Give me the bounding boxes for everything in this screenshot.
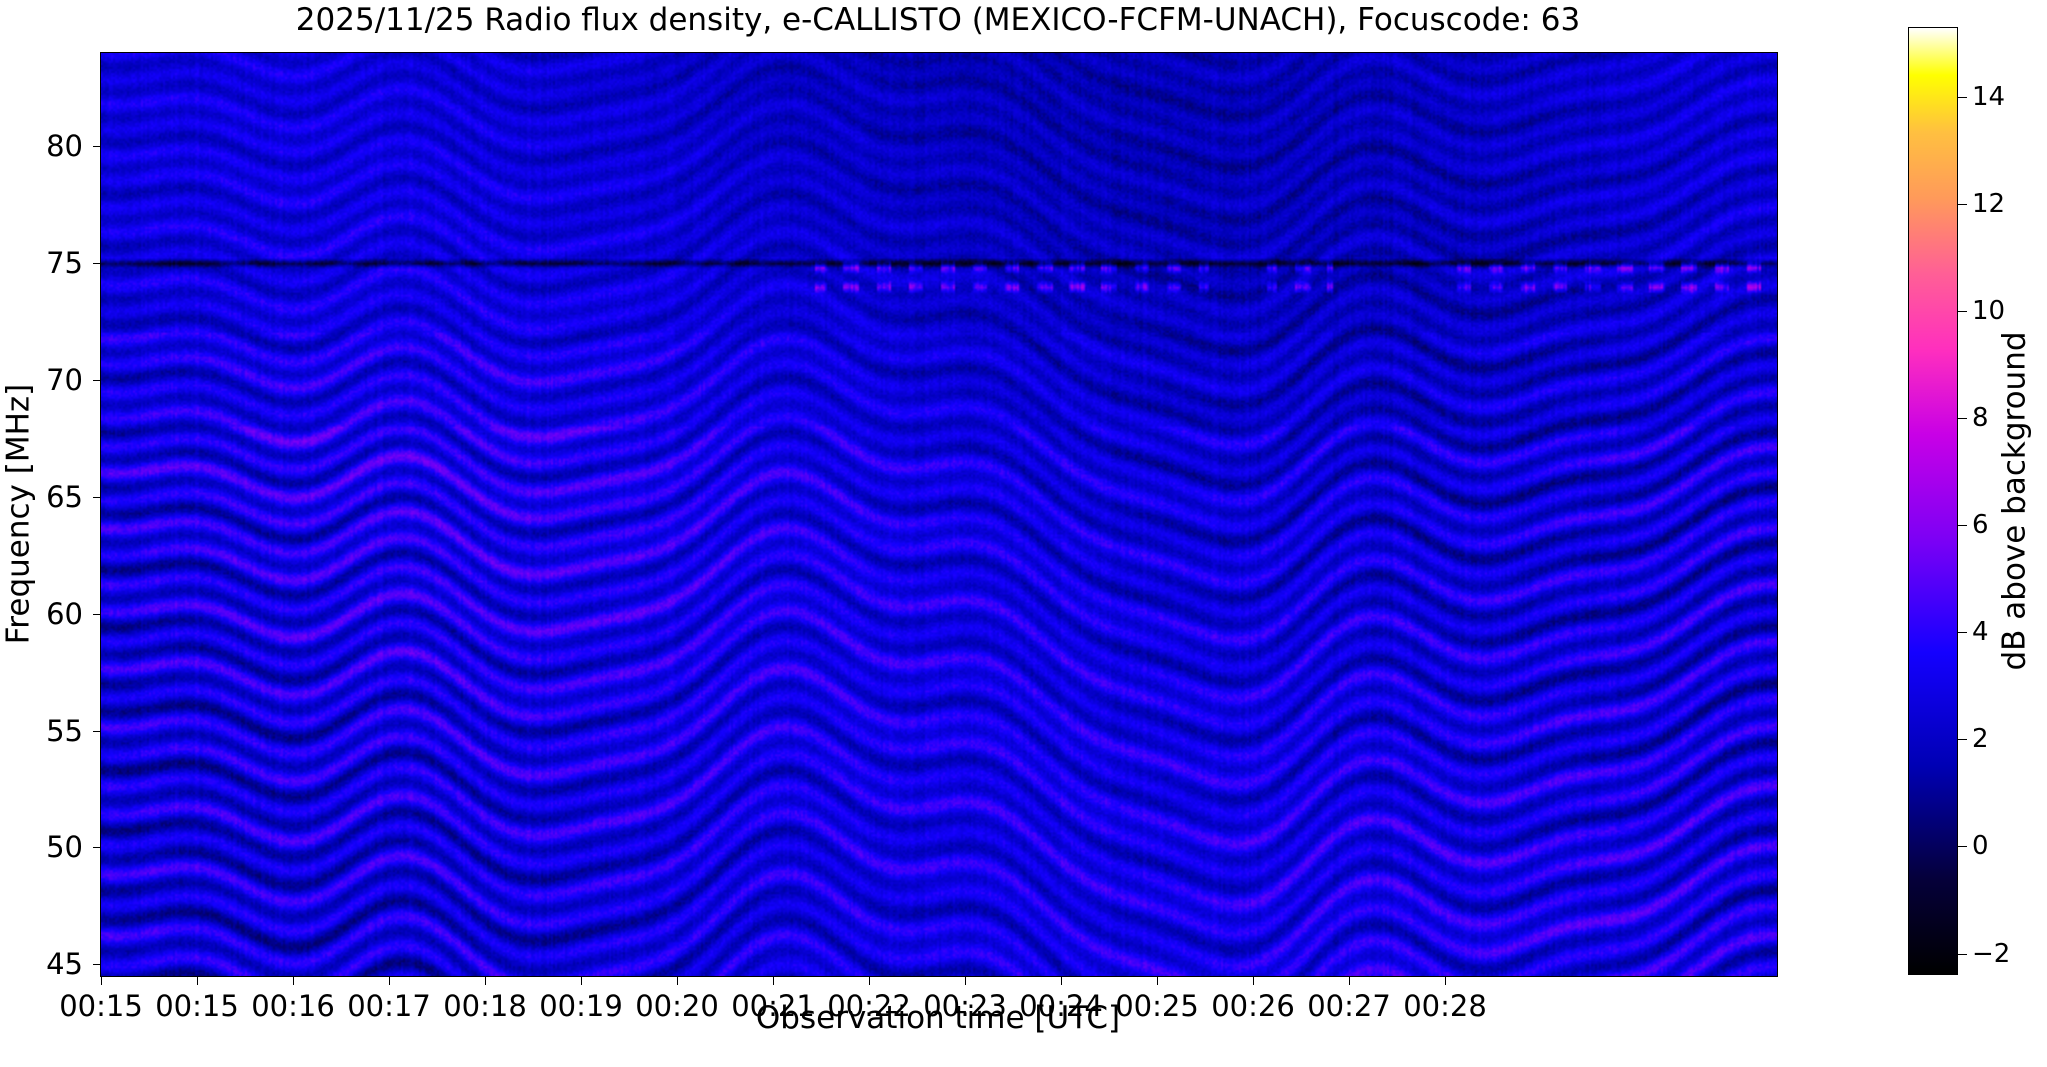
colorbar-tick-mark [1958, 632, 1967, 633]
y-tick-mark [93, 380, 101, 381]
colorbar-tick-label: 0 [1972, 831, 1989, 861]
y-tick-label: 55 [46, 714, 83, 748]
y-tick-mark [93, 614, 101, 615]
x-tick-mark [1349, 977, 1350, 985]
x-tick-mark [581, 977, 582, 985]
y-tick-mark [93, 731, 101, 732]
x-tick-mark [1157, 977, 1158, 985]
colorbar-tick-mark [1958, 311, 1967, 312]
y-tick-mark [93, 964, 101, 965]
y-tick-mark [93, 146, 101, 147]
x-tick-mark [773, 977, 774, 985]
y-tick-mark [93, 497, 101, 498]
x-tick-mark [1253, 977, 1254, 985]
colorbar-tick-mark [1958, 846, 1967, 847]
colorbar-tick-label: 2 [1972, 724, 1989, 754]
colorbar-tick-label: 4 [1972, 617, 1989, 647]
y-axis-label: Frequency [MHz] [0, 52, 38, 975]
y-tick-label: 75 [46, 246, 83, 280]
x-tick-mark [1061, 977, 1062, 985]
plot-area: 00:1500:1500:1600:1700:1800:1900:2000:21… [100, 52, 1778, 977]
colorbar: −202468101214 [1908, 27, 1958, 975]
colorbar-tick-mark [1958, 954, 1967, 955]
y-tick-label: 80 [46, 129, 83, 163]
x-tick-mark [1445, 977, 1446, 985]
x-tick-mark [677, 977, 678, 985]
colorbar-tick-mark [1958, 739, 1967, 740]
y-tick-label: 60 [46, 597, 83, 631]
x-tick-mark [293, 977, 294, 985]
y-axis-label-text: Frequency [MHz] [0, 383, 36, 644]
spectrogram-image [101, 53, 1777, 976]
page-title: 2025/11/25 Radio flux density, e-CALLIST… [100, 2, 1776, 38]
y-tick-mark [93, 847, 101, 848]
colorbar-tick-label: 6 [1972, 510, 1989, 540]
y-tick-mark [93, 263, 101, 264]
x-tick-mark [197, 977, 198, 985]
x-tick-mark [101, 977, 102, 985]
colorbar-label: dB above background [1990, 27, 2040, 975]
spectrogram-figure: 2025/11/25 Radio flux density, e-CALLIST… [0, 0, 2047, 1067]
colorbar-gradient [1908, 27, 1958, 975]
x-tick-mark [485, 977, 486, 985]
colorbar-tick-mark [1958, 418, 1967, 419]
y-tick-label: 70 [46, 363, 83, 397]
colorbar-tick-label: 8 [1972, 403, 1989, 433]
colorbar-tick-mark [1958, 525, 1967, 526]
x-tick-mark [389, 977, 390, 985]
x-tick-mark [965, 977, 966, 985]
y-tick-label: 50 [46, 830, 83, 864]
x-tick-mark [869, 977, 870, 985]
y-tick-label: 45 [46, 947, 83, 981]
x-axis-label: Observation time [UTC] [100, 1000, 1776, 1036]
colorbar-label-text: dB above background [1997, 331, 2033, 670]
colorbar-tick-mark [1958, 204, 1967, 205]
y-tick-label: 65 [46, 480, 83, 514]
colorbar-tick-mark [1958, 97, 1967, 98]
